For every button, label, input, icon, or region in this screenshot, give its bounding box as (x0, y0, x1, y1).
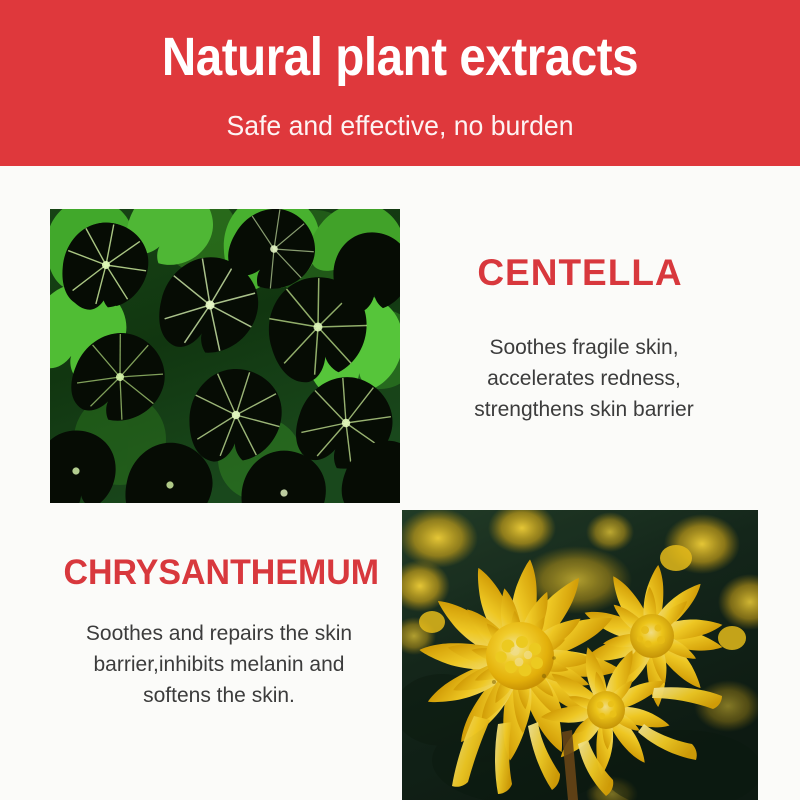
centella-heading: CENTELLA (400, 252, 760, 294)
centella-image (50, 209, 400, 503)
chrysanthemum-description-line: softens the skin. (38, 680, 400, 711)
chrysanthemum-description-line: barrier,inhibits melanin and (38, 649, 400, 680)
infographic-page: Natural plant extracts Safe and effectiv… (0, 0, 800, 800)
chrysanthemum-description-line: Soothes and repairs the skin (38, 618, 400, 649)
chrysanthemum-image (402, 510, 758, 800)
chrysanthemum-description: Soothes and repairs the skin barrier,inh… (38, 618, 400, 711)
centella-description-line: strengthens skin barrier (400, 394, 768, 425)
header-banner: Natural plant extracts Safe and effectiv… (0, 0, 800, 166)
centella-description-line: accelerates redness, (400, 363, 768, 394)
centella-description-line: Soothes fragile skin, (400, 332, 768, 363)
page-title: Natural plant extracts (48, 26, 752, 88)
page-subtitle: Safe and effective, no burden (20, 108, 780, 144)
centella-description: Soothes fragile skin, accelerates rednes… (400, 332, 768, 425)
chrysanthemum-heading: CHRYSANTHEMUM (49, 553, 394, 593)
